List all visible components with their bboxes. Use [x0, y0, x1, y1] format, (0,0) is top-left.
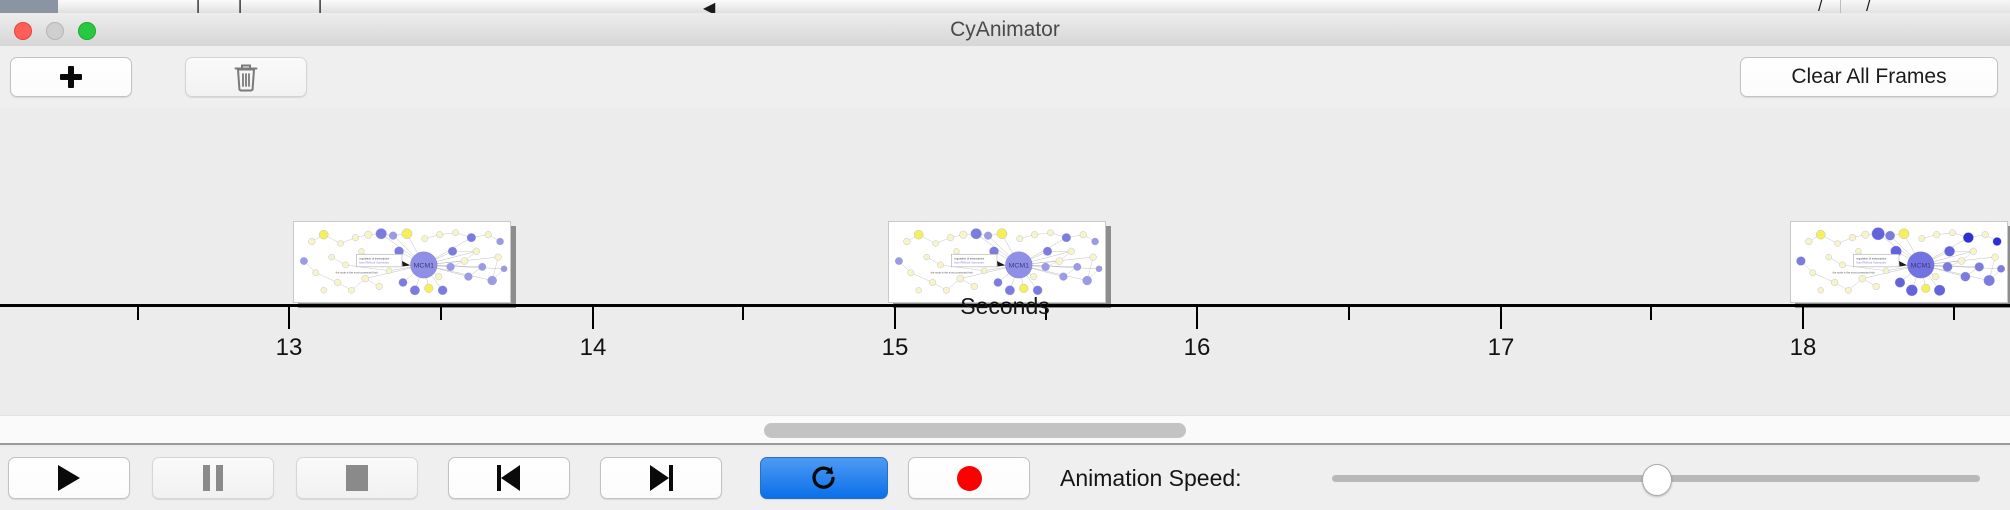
skip-back-icon — [497, 465, 521, 491]
loop-button[interactable] — [760, 457, 888, 499]
window-title: CyAnimator — [0, 13, 2010, 46]
stop-button[interactable] — [296, 457, 418, 499]
svg-text:MCM1: MCM1 — [1911, 263, 1932, 270]
loop-icon — [809, 463, 839, 493]
background-window-strip: Shape |||◀// — [0, 0, 2010, 14]
timeline-frame[interactable]: MCM1regulation of transcriptionfrom RNA … — [293, 221, 511, 303]
scrollbar-thumb[interactable] — [764, 423, 1186, 438]
toolbar: Clear All Frames — [0, 46, 2010, 110]
animation-speed-slider[interactable] — [1332, 447, 1980, 510]
network-thumbnail-graph: MCM1regulation of transcriptionfrom RNA … — [294, 222, 510, 302]
background-window-column — [470, 0, 621, 13]
axis-tick-label: 12 — [0, 334, 28, 362]
svg-text:regulation of transcription: regulation of transcription — [954, 256, 984, 260]
cyanimator-window: Shape |||◀// CyAnimator Clear All Frames… — [0, 0, 2010, 510]
timeline-canvas[interactable]: MCM1regulation of transcriptionfrom RNA … — [0, 108, 2010, 415]
record-button[interactable] — [908, 457, 1030, 499]
clear-all-frames-label: Clear All Frames — [1791, 65, 1946, 89]
play-button[interactable] — [8, 457, 130, 499]
background-window-glyph: | — [196, 0, 200, 14]
axis-tick-label: 16 — [1156, 334, 1238, 362]
add-frame-button[interactable] — [10, 57, 132, 97]
svg-text:MCM1: MCM1 — [1009, 263, 1030, 270]
background-window-glyph: ◀ — [703, 0, 715, 14]
axis-tick-label: 15 — [854, 334, 936, 362]
axis-tick-label: 14 — [552, 334, 634, 362]
animation-speed-label: Animation Speed: — [1060, 447, 1242, 510]
slider-thumb[interactable] — [1642, 464, 1672, 496]
background-window-glyph: / — [1866, 0, 1870, 14]
trash-icon — [233, 62, 259, 92]
stop-icon — [346, 465, 368, 491]
network-thumbnail-graph: MCM1regulation of transcriptionfrom RNA … — [1791, 222, 2007, 302]
background-window-column — [760, 0, 901, 13]
background-window-glyph: / — [1818, 0, 1822, 14]
timeline-scrollbar[interactable] — [0, 415, 2010, 445]
background-window-column — [356, 0, 471, 13]
plus-icon — [59, 65, 83, 89]
background-window-column — [196, 0, 239, 13]
background-window-column — [1560, 0, 1701, 13]
skip-back-button[interactable] — [448, 457, 570, 499]
background-window-column — [1180, 0, 1421, 13]
axis-tick-label: 18 — [1762, 334, 1844, 362]
delete-frame-button[interactable] — [185, 57, 307, 97]
axis-title: Seconds — [0, 293, 2010, 320]
background-window-column — [238, 0, 301, 13]
skip-forward-button[interactable] — [600, 457, 722, 499]
svg-text:the node is the most connected: the node is the most connected hub — [336, 271, 379, 275]
background-window-column — [300, 0, 357, 13]
playback-toolbar: Animation Speed: — [0, 447, 2010, 510]
title-bar: CyAnimator — [0, 13, 2010, 47]
background-window-glyph: | — [238, 0, 242, 14]
background-window-glyph: | — [318, 0, 322, 14]
svg-text:the node is the most connected: the node is the most connected hub — [1833, 271, 1876, 275]
record-icon — [957, 466, 982, 491]
timeline-frame[interactable]: MCM1regulation of transcriptionfrom RNA … — [888, 221, 1106, 303]
clear-all-frames-button[interactable]: Clear All Frames — [1740, 57, 1998, 97]
background-window-selected-cell — [0, 0, 58, 13]
svg-text:MCM1: MCM1 — [414, 263, 435, 270]
axis-tick-label: 17 — [1460, 334, 1542, 362]
background-window-column — [150, 0, 197, 13]
svg-text:regulation of transcription: regulation of transcription — [1856, 256, 1886, 260]
svg-text:from RNA pol II promoter: from RNA pol II promoter — [954, 260, 984, 264]
background-window-column — [58, 0, 151, 13]
pause-icon — [203, 465, 223, 491]
background-window-column — [620, 0, 701, 13]
svg-text:regulation of transcription: regulation of transcription — [359, 256, 389, 260]
timeline-frame[interactable]: MCM1regulation of transcriptionfrom RNA … — [1790, 221, 2008, 303]
play-icon — [58, 465, 80, 491]
network-thumbnail-graph: MCM1regulation of transcriptionfrom RNA … — [889, 222, 1105, 302]
background-window-column — [1420, 0, 1561, 13]
svg-text:from RNA pol II promoter: from RNA pol II promoter — [359, 260, 389, 264]
svg-text:the node is the most connected: the node is the most connected hub — [931, 271, 974, 275]
pause-button[interactable] — [152, 457, 274, 499]
axis-tick-label: 13 — [248, 334, 330, 362]
svg-text:from RNA pol II promoter: from RNA pol II promoter — [1856, 260, 1886, 264]
background-window-column — [900, 0, 1181, 13]
skip-forward-icon — [649, 465, 673, 491]
